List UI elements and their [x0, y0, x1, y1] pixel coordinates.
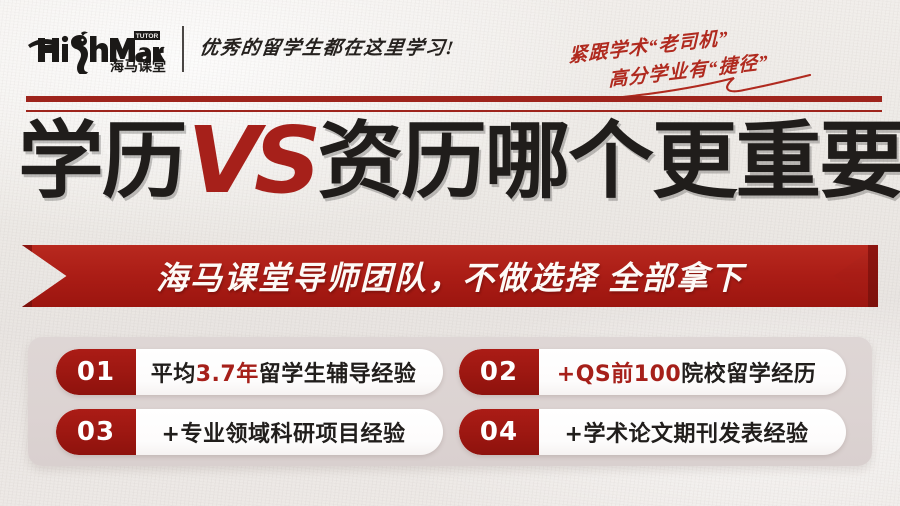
- feature-text-post: +学术论文期刊发表经验: [565, 416, 809, 448]
- logo-tutor-text: TUTOR: [136, 33, 159, 40]
- feature-text: +QS前100院校留学经历: [539, 356, 846, 388]
- feature-text: 平均3.7年留学生辅导经验: [136, 356, 443, 388]
- header-slogan-block: 紧跟学术“老司机” 高分学业有“捷径”: [564, 16, 864, 86]
- feature-text-pre: 平均: [151, 356, 196, 388]
- title-part-1: 学历: [18, 119, 185, 203]
- feature-item-03[interactable]: 03 +专业领域科研项目经验: [56, 409, 443, 455]
- title-rule-thick: [26, 96, 882, 102]
- feature-number-badge: 02: [459, 349, 539, 395]
- highmark-logo-svg: TUTOR 海马课堂: [28, 28, 168, 74]
- ribbon-text: 海马课堂导师团队，不做选择 全部拿下: [156, 253, 744, 299]
- title-vs: VS: [185, 115, 317, 207]
- feature-number-badge: 01: [56, 349, 136, 395]
- seahorse-icon: [71, 32, 88, 75]
- ribbon-fold-left: [22, 245, 32, 307]
- feature-text-highlight: +QS前100: [557, 356, 681, 388]
- feature-number-badge: 04: [459, 409, 539, 455]
- feature-text-post: +专业领域科研项目经验: [162, 416, 406, 448]
- feature-text: +学术论文期刊发表经验: [539, 416, 846, 448]
- feature-text-post: 院校留学经历: [681, 356, 816, 388]
- banner-header: TUTOR 海马课堂 优秀的留学生都在这里学习! 紧跟学术“老司机” 高分学业有…: [0, 0, 900, 92]
- header-divider: [182, 26, 184, 72]
- feature-item-04[interactable]: 04 +学术论文期刊发表经验: [459, 409, 846, 455]
- feature-text-post: 留学生辅导经验: [259, 356, 417, 388]
- ribbon-fold-right: [868, 245, 878, 307]
- logo-chinese-text: 海马课堂: [110, 58, 166, 74]
- feature-text: +专业领域科研项目经验: [136, 416, 443, 448]
- page-title: 学历 VS 资历哪个更重要: [18, 108, 900, 213]
- feature-text-highlight: 3.7年: [196, 356, 259, 388]
- ribbon-banner: 海马课堂导师团队，不做选择 全部拿下: [22, 245, 878, 307]
- brand-logo: TUTOR 海马课堂: [28, 28, 168, 74]
- promo-banner: TUTOR 海马课堂 优秀的留学生都在这里学习! 紧跟学术“老司机” 高分学业有…: [0, 0, 900, 506]
- feature-number-badge: 03: [56, 409, 136, 455]
- title-part-2: 资历哪个更重要: [317, 119, 900, 203]
- feature-item-02[interactable]: 02 +QS前100院校留学经历: [459, 349, 846, 395]
- feature-grid: 01 平均3.7年留学生辅导经验 02 +QS前100院校留学经历 03 +专业…: [56, 349, 846, 455]
- feature-item-01[interactable]: 01 平均3.7年留学生辅导经验: [56, 349, 443, 395]
- header-tagline: 优秀的留学生都在这里学习!: [198, 33, 456, 60]
